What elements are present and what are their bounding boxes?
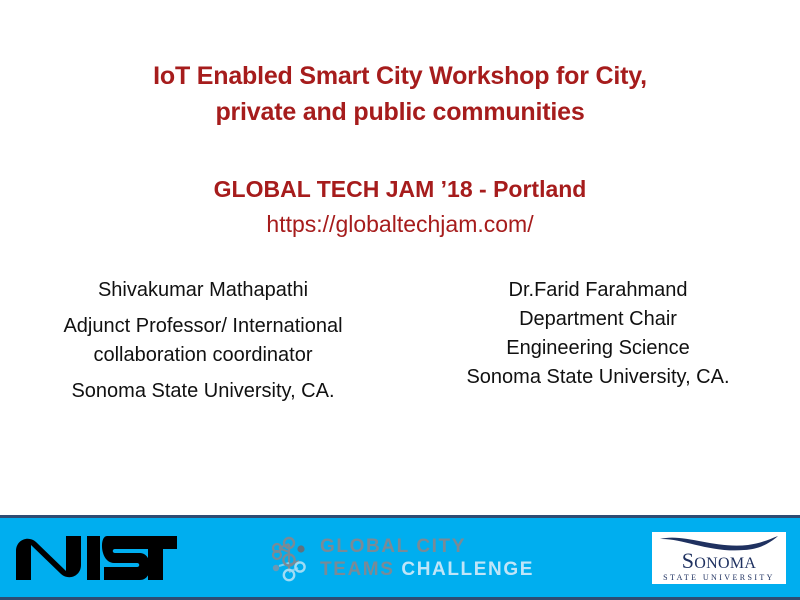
global-city-teams-challenge-logo: GLOBAL CITY TEAMS CHALLENGE: [268, 534, 503, 584]
title-line-1: IoT Enabled Smart City Workshop for City…: [60, 58, 740, 94]
presenter-left: Shivakumar Mathapathi Adjunct Professor/…: [0, 276, 400, 413]
sponsor-banner: GLOBAL CITY TEAMS CHALLENGE SONOMA STATE…: [0, 515, 800, 600]
slide-subtitle: GLOBAL TECH JAM ’18 - Portland https://g…: [60, 172, 740, 242]
gctc-line-1: GLOBAL CITY: [320, 535, 505, 558]
presenter-right-role-line-2: Engineering Science: [414, 334, 782, 363]
event-url[interactable]: https://globaltechjam.com/: [60, 207, 740, 242]
sonoma-word-s: S: [682, 548, 695, 573]
presenter-left-affiliation: Sonoma State University, CA.: [20, 377, 386, 406]
presentation-slide: IoT Enabled Smart City Workshop for City…: [0, 0, 800, 600]
presenter-right-name: Dr.Farid Farahmand: [414, 276, 782, 305]
nist-logo: [14, 534, 179, 582]
sponsor-banner-inner: GLOBAL CITY TEAMS CHALLENGE SONOMA STATE…: [0, 518, 800, 597]
sonoma-wordmark: SONOMA: [652, 549, 786, 576]
presenter-left-role-line-2: collaboration coordinator: [20, 341, 386, 370]
sonoma-state-university-logo: SONOMA STATE UNIVERSITY: [652, 532, 786, 584]
title-line-2: private and public communities: [60, 94, 740, 130]
presenter-left-role-line-1: Adjunct Professor/ International: [20, 312, 386, 341]
network-nodes-icon: [268, 536, 314, 582]
sonoma-word-onoma: ONOMA: [694, 555, 756, 572]
presenter-right: Dr.Farid Farahmand Department Chair Engi…: [400, 276, 800, 413]
presenter-left-name: Shivakumar Mathapathi: [20, 276, 386, 305]
event-name: GLOBAL TECH JAM ’18 - Portland: [60, 172, 740, 207]
presenter-columns: Shivakumar Mathapathi Adjunct Professor/…: [0, 276, 800, 413]
gctc-word-challenge: CHALLENGE: [401, 559, 534, 580]
sonoma-subtitle: STATE UNIVERSITY: [652, 573, 786, 582]
gctc-word-teams: TEAMS: [320, 559, 395, 580]
gctc-wordmark: GLOBAL CITY TEAMS CHALLENGE: [320, 535, 505, 581]
presenter-right-affiliation: Sonoma State University, CA.: [414, 363, 782, 392]
presenter-right-role-line-1: Department Chair: [414, 305, 782, 334]
slide-title: IoT Enabled Smart City Workshop for City…: [60, 58, 740, 130]
gctc-line-2: TEAMS CHALLENGE: [320, 558, 505, 581]
